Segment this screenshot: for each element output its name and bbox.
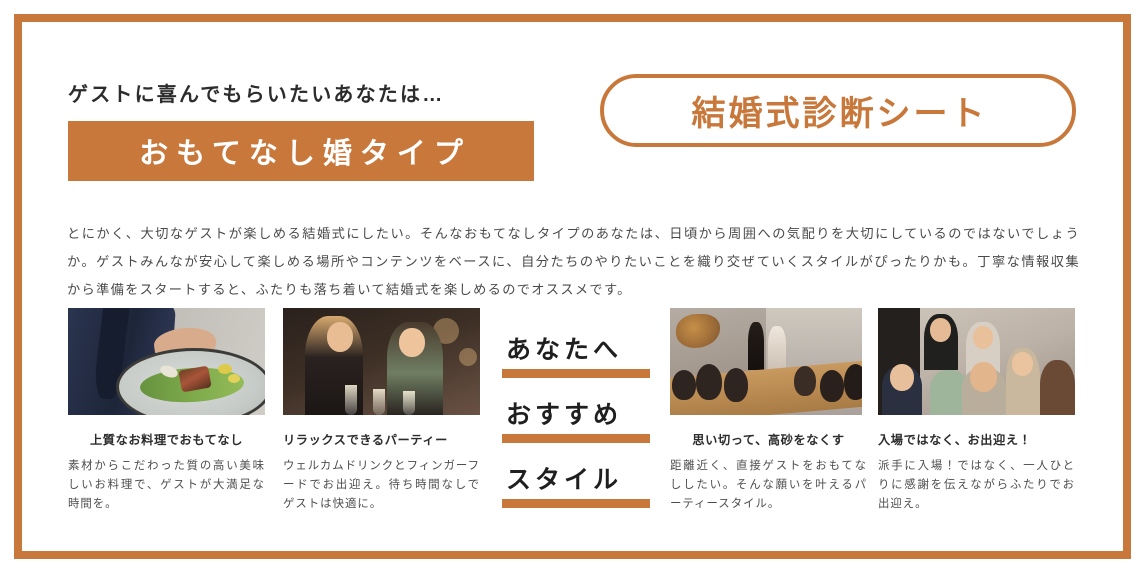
guests-celebrating-photo <box>878 308 1075 415</box>
style-cards-row: 上質なお料理でおもてなし 素材からこだわった質の高い美味しいお料理で、ゲストが大… <box>22 308 1123 543</box>
style-card-description: 距離近く、直接ゲストをおもてなししたい。そんな願いを叶えるパーティースタイル。 <box>670 457 867 514</box>
recommend-line-text: あなたへ <box>502 330 658 368</box>
style-card: 上質なお料理でおもてなし 素材からこだわった質の高い美味しいお料理で、ゲストが大… <box>68 308 265 514</box>
banquet-table-photo <box>670 308 862 415</box>
recommend-line: あなたへ <box>502 330 658 378</box>
style-card-title: 上質なお料理でおもてなし <box>68 430 265 448</box>
diagnosis-sheet: ゲストに喜んでもらいたいあなたは… おもてなし婚タイプ 結婚式診断シート とにか… <box>0 0 1145 573</box>
sheet-title-pill: 結婚式診断シート <box>600 74 1076 147</box>
style-card-description: 派手に入場！ではなく、一人ひとりに感謝を伝えながらふたりでお出迎え。 <box>878 457 1075 514</box>
style-card-description: 素材からこだわった質の高い美味しいお料理で、ゲストが大満足な時間を。 <box>68 457 265 514</box>
guests-celebrating-illustration <box>878 308 1075 415</box>
style-card-title: 思い切って、高砂をなくす <box>670 430 867 448</box>
banquet-table-illustration <box>670 308 862 415</box>
lead-paragraph: とにかく、大切なゲストが楽しめる結婚式にしたい。そんなおもてなしタイプのあなたは… <box>67 220 1080 304</box>
plated-dish-illustration <box>68 308 265 415</box>
style-card: 入場ではなく、お出迎え！ 派手に入場！ではなく、一人ひとりに感謝を伝えながらふた… <box>878 308 1075 514</box>
recommend-line: おすすめ <box>502 395 658 443</box>
type-badge: おもてなし婚タイプ <box>68 121 534 181</box>
header: ゲストに喜んでもらいたいあなたは… おもてなし婚タイプ 結婚式診断シート <box>22 22 1123 192</box>
recommend-line-text: おすすめ <box>502 395 658 433</box>
plated-dish-photo <box>68 308 265 415</box>
style-card: リラックスできるパーティー ウェルカムドリンクとフィンガーフードでお出迎え。待ち… <box>283 308 480 514</box>
style-card-title: リラックスできるパーティー <box>283 430 480 448</box>
recommend-line: スタイル <box>502 460 658 508</box>
type-badge-label: おもてなし婚タイプ <box>131 130 471 172</box>
recommend-line-text: スタイル <box>502 460 658 498</box>
style-card-title: 入場ではなく、お出迎え！ <box>878 430 1075 448</box>
recommend-underline <box>502 499 650 508</box>
guests-laughing-illustration <box>283 308 480 415</box>
guests-laughing-photo <box>283 308 480 415</box>
recommend-stack: あなたへ おすすめ スタイル <box>502 330 658 525</box>
eyebrow-text: ゲストに喜んでもらいたいあなたは… <box>68 78 444 107</box>
style-card-description: ウェルカムドリンクとフィンガーフードでお出迎え。待ち時間なしでゲストは快適に。 <box>283 457 480 514</box>
recommend-underline <box>502 434 650 443</box>
style-card: 思い切って、高砂をなくす 距離近く、直接ゲストをおもてなししたい。そんな願いを叶… <box>670 308 867 514</box>
sheet-title-label: 結婚式診断シート <box>689 86 988 135</box>
sheet-content: ゲストに喜んでもらいたいあなたは… おもてなし婚タイプ 結婚式診断シート とにか… <box>22 22 1123 551</box>
recommend-underline <box>502 369 650 378</box>
